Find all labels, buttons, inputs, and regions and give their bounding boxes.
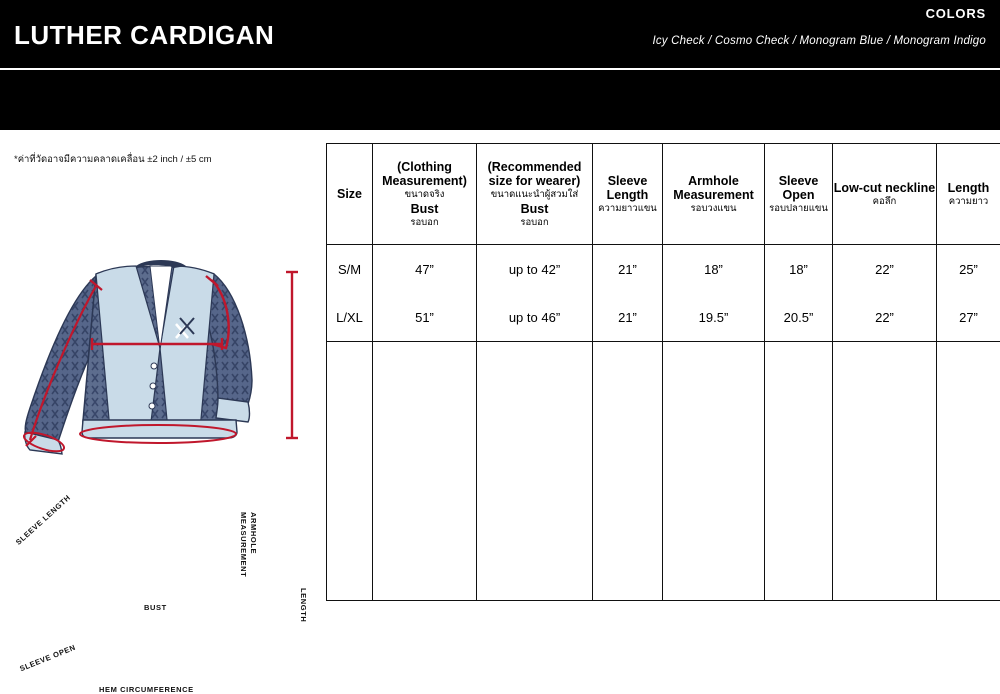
cell-low-cut-neckline: 22” [833, 293, 937, 342]
cell-low-cut-neckline: 22” [833, 245, 937, 294]
header-main: Armhole Measurement [663, 174, 764, 202]
empty-cell [327, 342, 373, 601]
header-main: Length [937, 181, 1000, 195]
table-row: L/XL 51” up to 46” 21” 19.5” 20.5” 22” 2… [327, 293, 1000, 342]
header-thai-sub: รอบวงแขน [663, 202, 764, 215]
header-band [0, 70, 1000, 130]
cell-sleeve-length: 21” [593, 293, 663, 342]
cell-recommended-bust: up to 46” [477, 293, 593, 342]
header-cell-clothing-bust: (Clothing Measurement) ขนาดจริง Bust รอบ… [373, 144, 477, 245]
header-main: Sleeve Length [593, 174, 662, 202]
label-armhole-measurement: ARMHOLE MEASUREMENT [238, 512, 258, 582]
header-cell-low-cut-neckline: Low-cut neckline คอลึก [833, 144, 937, 245]
label-sleeve-open: SLEEVE OPEN [18, 642, 78, 675]
header-thai-sub: ความยาวแขน [593, 202, 662, 215]
cell-size: L/XL [327, 293, 373, 342]
cardigan-diagram-svg [0, 240, 326, 485]
label-length: LENGTH [299, 588, 308, 622]
header-thai-sub: รอบอก [373, 216, 476, 229]
header-main: Bust [373, 202, 476, 216]
header-main: Low-cut neckline [833, 181, 936, 195]
label-hem-circumference: HEM CIRCUMFERENCE [99, 685, 194, 694]
header-thai-sub: รอบอก [477, 216, 592, 229]
cell-clothing-bust: 47” [373, 245, 477, 294]
page-title: LUTHER CARDIGAN [14, 20, 274, 51]
header-thai-top: ขนาดแนะนำผู้สวมใส่ [477, 188, 592, 202]
header-thai-sub: ความยาว [937, 195, 1000, 208]
empty-cell [833, 342, 937, 601]
cell-sleeve-open: 20.5” [765, 293, 833, 342]
cell-length: 27” [937, 293, 1000, 342]
measurement-disclaimer: *ค่าที่วัดอาจมีความคลาดเคลื่อน ±2 inch /… [14, 152, 212, 167]
cell-armhole: 18” [663, 245, 765, 294]
cell-armhole: 19.5” [663, 293, 765, 342]
cell-sleeve-open: 18” [765, 245, 833, 294]
header-cell-length: Length ความยาว [937, 144, 1000, 245]
header-paren: (Clothing Measurement) [373, 160, 476, 188]
colors-label: COLORS [926, 6, 986, 21]
empty-cell [663, 342, 765, 601]
colors-list: Icy Check / Cosmo Check / Monogram Blue … [652, 35, 986, 47]
empty-cell [593, 342, 663, 601]
table-empty-row [327, 342, 1000, 601]
empty-cell [765, 342, 833, 601]
header-thai-sub: รอบปลายแขน [765, 202, 832, 215]
header-thai-top: ขนาดจริง [373, 188, 476, 202]
label-bust: BUST [144, 603, 167, 612]
table-row: S/M 47” up to 42” 21” 18” 18” 22” 25” [327, 245, 1000, 294]
header-cell-armhole: Armhole Measurement รอบวงแขน [663, 144, 765, 245]
cell-clothing-bust: 51” [373, 293, 477, 342]
empty-cell [937, 342, 1000, 601]
cell-size: S/M [327, 245, 373, 294]
header-cell-sleeve-open: Sleeve Open รอบปลายแขน [765, 144, 833, 245]
label-sleeve-length: SLEEVE LENGTH [14, 480, 87, 547]
empty-cell [477, 342, 593, 601]
header-paren: (Recommended size for wearer) [477, 160, 592, 188]
cell-length: 25” [937, 245, 1000, 294]
header-cell-size: Size [327, 144, 373, 245]
garment-illustration: SLEEVE LENGTH SLEEVE OPEN HEM CIRCUMFERE… [0, 240, 326, 480]
header-cell-sleeve-length: Sleeve Length ความยาวแขน [593, 144, 663, 245]
empty-cell [373, 342, 477, 601]
size-chart-table: Size (Clothing Measurement) ขนาดจริง Bus… [326, 143, 1000, 601]
header-cell-recommended-bust: (Recommended size for wearer) ขนาดแนะนำผ… [477, 144, 593, 245]
cell-sleeve-length: 21” [593, 245, 663, 294]
header-main: Sleeve Open [765, 174, 832, 202]
header-main: Bust [477, 202, 592, 216]
page-header: LUTHER CARDIGAN COLORS Icy Check / Cosmo… [0, 0, 1000, 68]
table-header-row: Size (Clothing Measurement) ขนาดจริง Bus… [327, 144, 1000, 245]
header-thai-sub: คอลึก [833, 195, 936, 208]
header-main: Size [327, 187, 372, 201]
cell-recommended-bust: up to 42” [477, 245, 593, 294]
